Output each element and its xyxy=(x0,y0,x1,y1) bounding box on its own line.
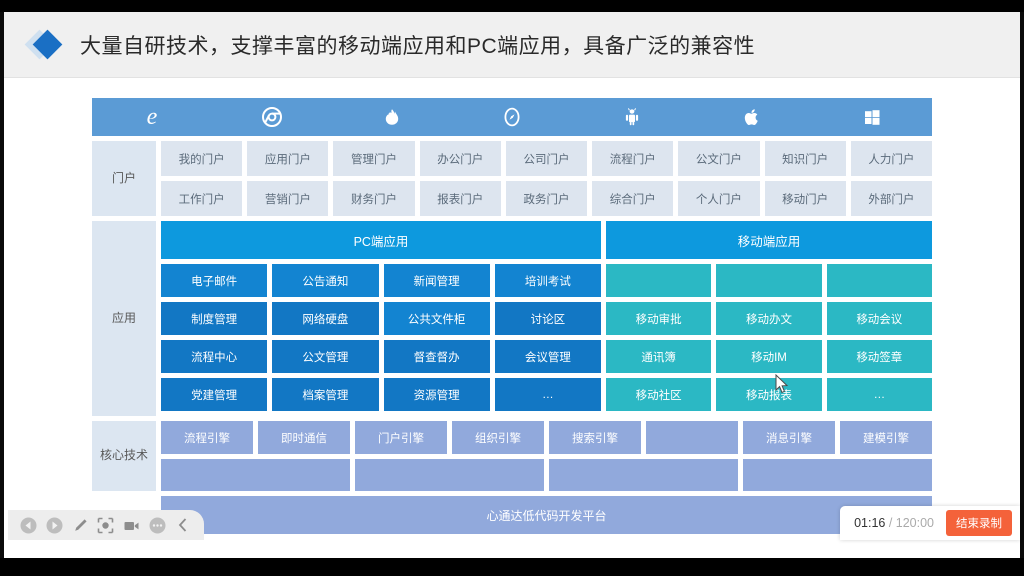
windows-icon xyxy=(812,98,932,136)
mobile-app-cell[interactable]: 通讯簿 xyxy=(606,340,711,373)
portal-cell[interactable]: 综合门户 xyxy=(592,181,673,216)
recording-widget: 01:16 / 120:00 结束录制 xyxy=(840,506,1020,540)
recording-separator: / xyxy=(885,516,895,530)
mobile-app-cell[interactable]: 移动IM xyxy=(716,340,821,373)
portal-cell[interactable]: 营销门户 xyxy=(247,181,328,216)
portal-cell[interactable]: 知识门户 xyxy=(765,141,846,176)
core-tech-cell[interactable]: 门户引擎 xyxy=(355,421,447,454)
pc-app-cell[interactable]: 资源管理 xyxy=(384,378,490,411)
portal-cell[interactable]: 办公门户 xyxy=(420,141,501,176)
row-label-core-technology: 核心 技术 xyxy=(92,421,156,491)
pc-app-line-1: 电子邮件 公告通知 新闻管理 培训考试 xyxy=(161,264,601,297)
pc-app-cell[interactable]: 讨论区 xyxy=(495,302,601,335)
row-label-portal: 门户 xyxy=(92,141,156,216)
core-tech-cell[interactable]: 即时通信 xyxy=(258,421,350,454)
portal-cell[interactable]: 移动门户 xyxy=(765,181,846,216)
application-row: 应用 PC端应用 电子邮件 公告通知 新闻管理 培训考试 制度管理 网络硬盘 xyxy=(92,221,932,416)
mobile-app-cell[interactable]: 移动签章 xyxy=(827,340,932,373)
safari-icon xyxy=(452,98,572,136)
pc-app-cell[interactable]: 制度管理 xyxy=(161,302,267,335)
pc-app-line-3: 流程中心 公文管理 督查督办 会议管理 xyxy=(161,340,601,373)
mobile-app-cell[interactable]: 移动会议 xyxy=(827,302,932,335)
application-grid: PC端应用 电子邮件 公告通知 新闻管理 培训考试 制度管理 网络硬盘 公共文件… xyxy=(161,221,932,416)
slide-surface: 大量自研技术，支撑丰富的移动端应用和PC端应用，具备广泛的兼容性 e xyxy=(4,12,1020,558)
platform-row: 心通达低代码开发平台 xyxy=(92,496,932,534)
pc-app-cell[interactable]: 公告通知 xyxy=(272,264,378,297)
previous-slide-icon[interactable] xyxy=(19,515,39,535)
portal-grid: 我的门户 应用门户 管理门户 办公门户 公司门户 流程门户 公文门户 知识门户 … xyxy=(161,141,932,216)
recording-elapsed: 01:16 xyxy=(854,516,885,530)
apple-icon xyxy=(692,98,812,136)
core-line-2 xyxy=(161,459,932,491)
portal-cell[interactable]: 我的门户 xyxy=(161,141,242,176)
slide-header: 大量自研技术，支撑丰富的移动端应用和PC端应用，具备广泛的兼容性 xyxy=(4,12,1020,78)
browser-support-bar: e xyxy=(92,98,932,136)
pc-app-cell[interactable]: 电子邮件 xyxy=(161,264,267,297)
pen-icon[interactable] xyxy=(70,515,90,535)
presenter-toolbar xyxy=(8,510,204,540)
internet-explorer-icon: e xyxy=(92,98,212,136)
letterbox-top xyxy=(0,0,1024,12)
row-label-core-line2: 技术 xyxy=(124,447,148,464)
platform-bar[interactable]: 心通达低代码开发平台 xyxy=(161,496,932,534)
pc-app-cell[interactable]: 督查督办 xyxy=(384,340,490,373)
collapse-icon[interactable] xyxy=(173,515,193,535)
mobile-application-heading: 移动端应用 xyxy=(606,221,932,259)
mobile-app-cell[interactable]: 移动社区 xyxy=(606,378,711,411)
core-technology-row: 核心 技术 流程引擎 即时通信 门户引擎 组织引擎 搜索引擎 消息引擎 建模引擎 xyxy=(92,421,932,491)
core-tech-cell[interactable]: 组织引擎 xyxy=(452,421,544,454)
portal-cell[interactable]: 管理门户 xyxy=(333,141,414,176)
core-tech-bar[interactable] xyxy=(549,459,738,491)
pc-application-heading: PC端应用 xyxy=(161,221,601,259)
video-icon[interactable] xyxy=(122,515,142,535)
mobile-app-cell[interactable] xyxy=(606,264,711,297)
screen: 大量自研技术，支撑丰富的移动端应用和PC端应用，具备广泛的兼容性 e xyxy=(0,0,1024,576)
recording-total: 120:00 xyxy=(896,516,934,530)
pc-app-cell[interactable]: 培训考试 xyxy=(495,264,601,297)
core-line-1: 流程引擎 即时通信 门户引擎 组织引擎 搜索引擎 消息引擎 建模引擎 xyxy=(161,421,932,454)
portal-line-2: 工作门户 营销门户 财务门户 报表门户 政务门户 综合门户 个人门户 移动门户 … xyxy=(161,181,932,216)
portal-cell[interactable]: 外部门户 xyxy=(851,181,932,216)
pc-application-column: PC端应用 电子邮件 公告通知 新闻管理 培训考试 制度管理 网络硬盘 公共文件… xyxy=(161,221,601,416)
spotlight-icon[interactable] xyxy=(96,515,116,535)
portal-cell[interactable]: 财务门户 xyxy=(333,181,414,216)
mobile-app-line-3: 通讯簿 移动IM 移动签章 xyxy=(606,340,932,373)
mobile-app-line-2: 移动审批 移动办文 移动会议 xyxy=(606,302,932,335)
letterbox-right xyxy=(1020,12,1024,558)
next-slide-icon[interactable] xyxy=(45,515,65,535)
mobile-app-line-4: 移动社区 移动报表 … xyxy=(606,378,932,411)
portal-cell[interactable]: 人力门户 xyxy=(851,141,932,176)
core-tech-bar[interactable] xyxy=(355,459,544,491)
mobile-app-cell[interactable]: 移动审批 xyxy=(606,302,711,335)
portal-cell[interactable]: 应用门户 xyxy=(247,141,328,176)
core-tech-cell-blank[interactable] xyxy=(646,421,738,454)
pc-app-cell[interactable]: 流程中心 xyxy=(161,340,267,373)
core-tech-cell[interactable]: 搜索引擎 xyxy=(549,421,641,454)
pc-app-line-4: 党建管理 档案管理 资源管理 … xyxy=(161,378,601,411)
core-tech-cell[interactable]: 消息引擎 xyxy=(743,421,835,454)
chrome-icon xyxy=(212,98,332,136)
pc-app-cell[interactable]: 新闻管理 xyxy=(384,264,490,297)
portal-cell[interactable]: 流程门户 xyxy=(592,141,673,176)
row-label-application: 应用 xyxy=(92,221,156,416)
pc-app-line-2: 制度管理 网络硬盘 公共文件柜 讨论区 xyxy=(161,302,601,335)
firefox-icon xyxy=(332,98,452,136)
letterbox-bottom xyxy=(0,558,1024,576)
pc-app-cell[interactable]: 会议管理 xyxy=(495,340,601,373)
more-icon[interactable] xyxy=(147,515,167,535)
recording-time: 01:16 / 120:00 xyxy=(854,516,934,530)
core-tech-bar[interactable] xyxy=(743,459,932,491)
android-icon xyxy=(572,98,692,136)
mobile-app-cell[interactable] xyxy=(716,264,821,297)
portal-cell[interactable]: 个人门户 xyxy=(678,181,759,216)
core-tech-cell[interactable]: 建模引擎 xyxy=(840,421,932,454)
pc-app-cell[interactable]: 网络硬盘 xyxy=(272,302,378,335)
pc-app-cell[interactable]: 党建管理 xyxy=(161,378,267,411)
portal-row: 门户 我的门户 应用门户 管理门户 办公门户 公司门户 流程门户 公文门户 知识… xyxy=(92,141,932,216)
portal-cell[interactable]: 报表门户 xyxy=(420,181,501,216)
portal-cell[interactable]: 公司门户 xyxy=(506,141,587,176)
page-title: 大量自研技术，支撑丰富的移动端应用和PC端应用，具备广泛的兼容性 xyxy=(80,30,755,60)
mobile-app-line-1 xyxy=(606,264,932,297)
core-tech-cell[interactable]: 流程引擎 xyxy=(161,421,253,454)
portal-cell[interactable]: 公文门户 xyxy=(678,141,759,176)
architecture-diagram: e xyxy=(92,98,932,538)
core-tech-bar[interactable] xyxy=(161,459,350,491)
pc-app-cell-more[interactable]: … xyxy=(495,378,601,411)
stop-recording-button[interactable]: 结束录制 xyxy=(946,510,1012,536)
pc-app-cell[interactable]: 公文管理 xyxy=(272,340,378,373)
portal-line-1: 我的门户 应用门户 管理门户 办公门户 公司门户 流程门户 公文门户 知识门户 … xyxy=(161,141,932,176)
pc-app-cell[interactable]: 公共文件柜 xyxy=(384,302,490,335)
mobile-app-cell-more[interactable]: … xyxy=(827,378,932,411)
core-technology-grid: 流程引擎 即时通信 门户引擎 组织引擎 搜索引擎 消息引擎 建模引擎 xyxy=(161,421,932,491)
diamond-icon xyxy=(26,28,68,62)
mobile-app-cell[interactable]: 移动报表 xyxy=(716,378,821,411)
mobile-app-cell[interactable]: 移动办文 xyxy=(716,302,821,335)
portal-cell[interactable]: 政务门户 xyxy=(506,181,587,216)
portal-cell[interactable]: 工作门户 xyxy=(161,181,242,216)
mobile-application-column: 移动端应用 移动审批 移动办文 移动会议 通讯簿 xyxy=(606,221,932,416)
pc-app-cell[interactable]: 档案管理 xyxy=(272,378,378,411)
row-label-core-line1: 核心 xyxy=(100,447,124,464)
mobile-app-cell[interactable] xyxy=(827,264,932,297)
